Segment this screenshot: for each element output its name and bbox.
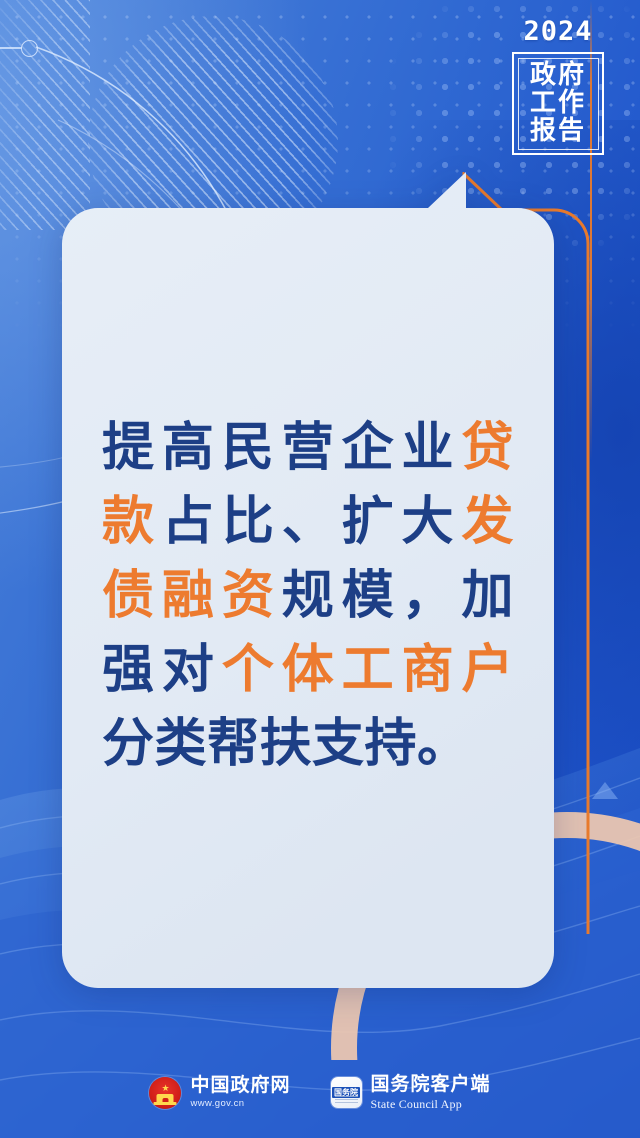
quote-segment-6: 分类帮扶支持。	[102, 714, 470, 774]
quote-segment-2: 占比、扩大	[162, 492, 462, 552]
state-council-app-icon: 国务院	[331, 1077, 362, 1108]
circle-node-decor-icon	[21, 40, 38, 57]
orange-edge-line-lower	[590, 300, 592, 460]
logo-state-council-app[interactable]: 国务院 国务院客户端 State Council App	[331, 1075, 491, 1110]
quote-text-container: 提高民营企业贷款占比、扩大发债融资规模，加强对个体工商户分类帮扶支持。	[62, 172, 554, 988]
logo-gov-cn-text: 中国政府网 www.gov.cn	[190, 1076, 290, 1109]
quote-text: 提高民营企业贷款占比、扩大发债融资规模，加强对个体工商户分类帮扶支持。	[102, 412, 514, 781]
quote-segment-5: 个体工商户	[222, 640, 514, 700]
poster-root: 提高民营企业贷款占比、扩大发债融资规模，加强对个体工商户分类帮扶支持。 2024…	[0, 0, 640, 1138]
triangle-marker-icon	[592, 782, 618, 799]
emblem-bar-icon	[154, 1102, 177, 1105]
logo-state-council-text: 国务院客户端 State Council App	[371, 1075, 491, 1110]
state-council-app-icon-lines	[335, 1096, 358, 1104]
emblem-star-icon: ★	[161, 1084, 169, 1093]
circle-node-stem-decor	[0, 47, 22, 49]
quote-segment-0: 提高民营企业	[102, 418, 461, 478]
logo-gov-cn-url: www.gov.cn	[190, 1099, 290, 1109]
national-emblem-icon: ★	[149, 1077, 181, 1109]
logo-state-council-name-en: State Council App	[371, 1098, 491, 1110]
orange-edge-line	[590, 0, 592, 300]
logo-gov-cn[interactable]: ★ 中国政府网 www.gov.cn	[149, 1076, 290, 1109]
logo-state-council-name: 国务院客户端	[371, 1075, 491, 1094]
logo-gov-cn-name: 中国政府网	[190, 1076, 290, 1095]
footer-logos: ★ 中国政府网 www.gov.cn 国务院 国务院客户端 State Coun…	[0, 1075, 640, 1110]
